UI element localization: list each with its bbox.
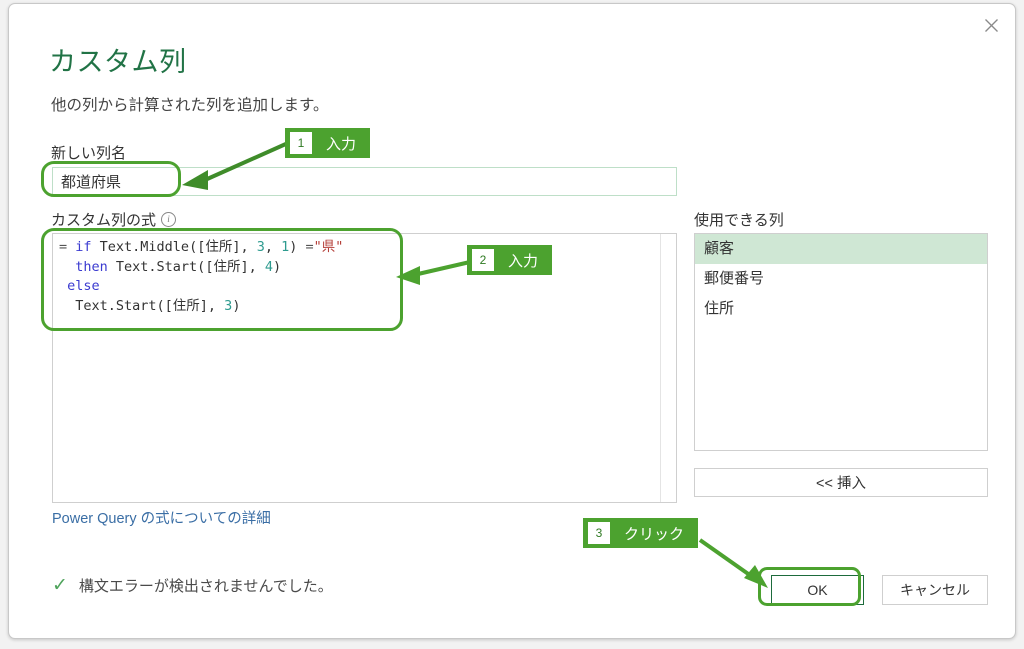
code-token: "県"	[314, 239, 344, 255]
code-token: Text.Middle([住所],	[92, 239, 257, 255]
custom-formula-label-text: カスタム列の式	[51, 209, 156, 230]
callout-badge-1[interactable]: 1 入力	[285, 128, 370, 158]
check-icon: ✓	[52, 576, 68, 595]
code-token: Text.Start([住所],	[108, 259, 265, 275]
ok-button[interactable]: OK	[771, 575, 864, 605]
code-token: =	[59, 239, 75, 255]
code-token	[59, 278, 67, 294]
custom-formula-label: カスタム列の式 i	[51, 209, 176, 230]
status-message: ✓ 構文エラーが検出されませんでした。	[52, 575, 333, 596]
custom-column-dialog: カスタム列 他の列から計算された列を追加します。 新しい列名 カスタム列の式 i…	[8, 3, 1016, 639]
code-token: )	[273, 259, 281, 275]
page-title: カスタム列	[49, 40, 187, 79]
code-token: Text.Start([住所],	[59, 298, 224, 314]
callout-badge-2-number: 2	[472, 249, 494, 271]
code-token: ,	[265, 239, 281, 255]
callout-badge-2[interactable]: 2 入力	[467, 245, 552, 275]
insert-button[interactable]: << 挿入	[694, 468, 988, 497]
code-token: )	[289, 239, 305, 255]
available-column-item[interactable]: 顧客	[695, 234, 987, 264]
callout-badge-3-number: 3	[588, 522, 610, 544]
code-token: =	[306, 239, 314, 255]
formula-code: = if Text.Middle([住所], 3, 1) ="県" then T…	[59, 238, 343, 316]
callout-badge-3[interactable]: 3 クリック	[583, 518, 698, 548]
code-token: if	[75, 239, 91, 255]
available-columns-label: 使用できる列	[694, 209, 784, 230]
code-token	[59, 259, 75, 275]
formula-editor[interactable]: = if Text.Middle([住所], 3, 1) ="県" then T…	[52, 233, 677, 503]
code-token: then	[75, 259, 108, 275]
cancel-button[interactable]: キャンセル	[882, 575, 988, 605]
callout-badge-1-text: 入力	[326, 133, 356, 154]
close-icon[interactable]	[971, 8, 1011, 42]
code-token: 3	[257, 239, 265, 255]
available-column-item[interactable]: 郵便番号	[695, 264, 987, 294]
code-token: 4	[265, 259, 273, 275]
available-columns-list[interactable]: 顧客郵便番号住所	[694, 233, 988, 451]
code-token: else	[67, 278, 100, 294]
callout-badge-3-text: クリック	[624, 523, 684, 544]
available-column-item[interactable]: 住所	[695, 294, 987, 324]
new-column-name-label: 新しい列名	[51, 142, 126, 163]
dialog-subtitle: 他の列から計算された列を追加します。	[51, 93, 328, 115]
callout-badge-1-number: 1	[290, 132, 312, 154]
formula-scrollbar[interactable]	[660, 234, 676, 502]
callout-badge-2-text: 入力	[508, 250, 538, 271]
power-query-help-link[interactable]: Power Query の式についての詳細	[52, 507, 271, 528]
code-token: )	[232, 298, 240, 314]
info-icon[interactable]: i	[161, 212, 176, 227]
status-text: 構文エラーが検出されませんでした。	[79, 575, 333, 596]
new-column-name-input[interactable]	[52, 167, 677, 196]
